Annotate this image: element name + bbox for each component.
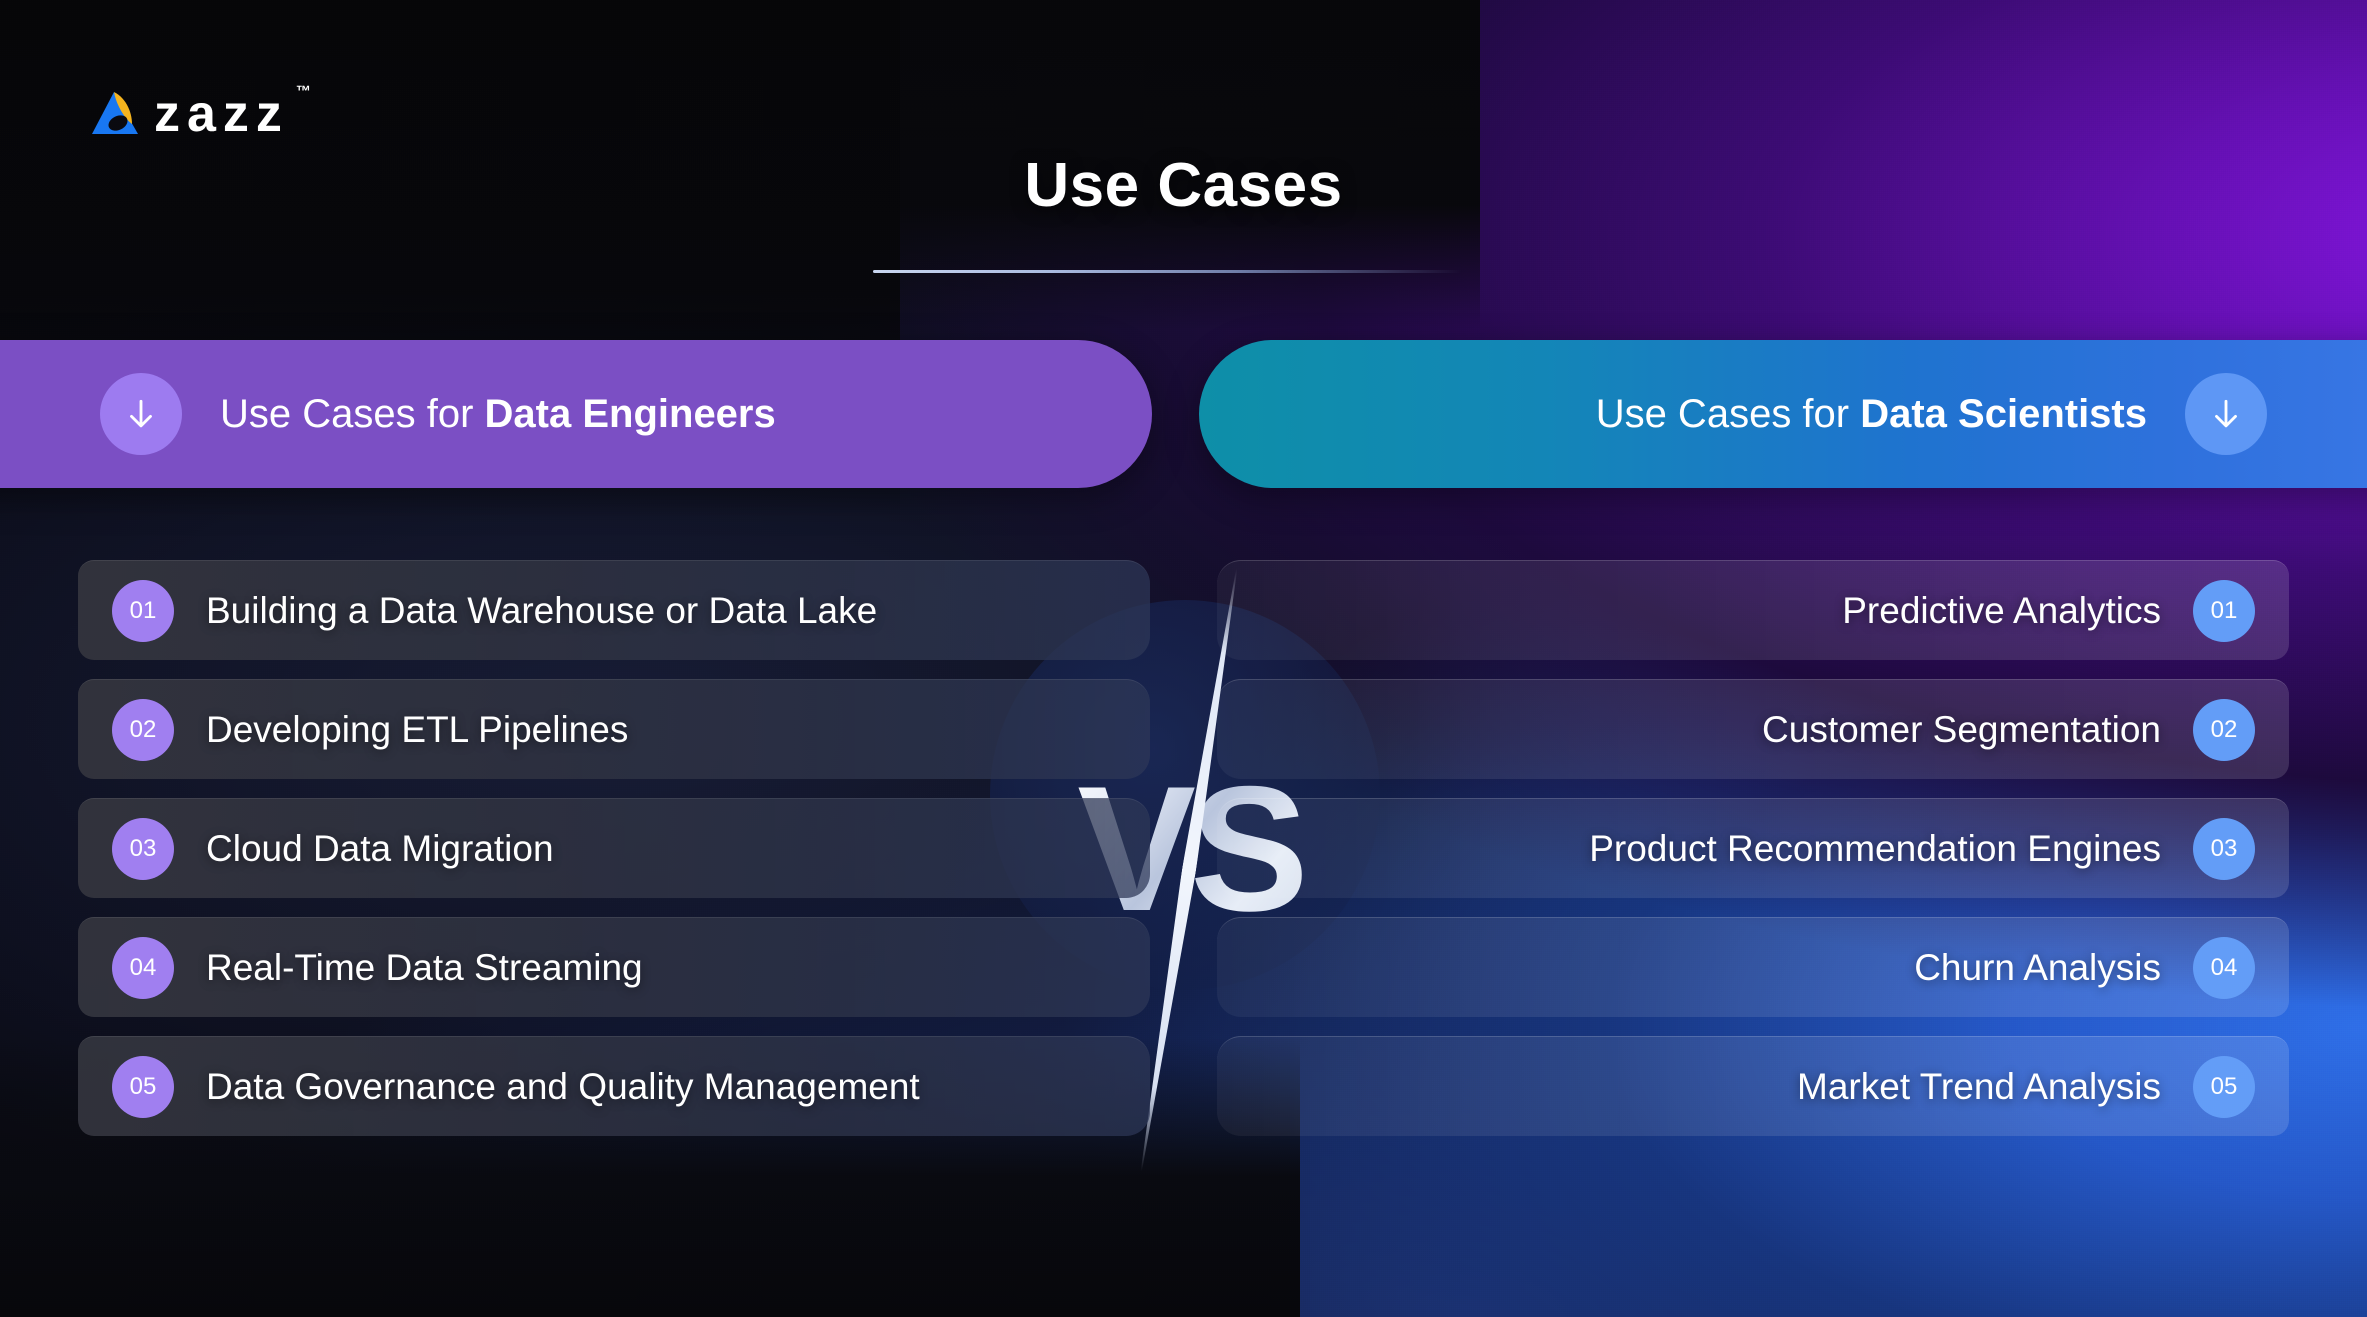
right-panel-header-label: Use Cases for Data Scientists	[1596, 392, 2147, 437]
item-label: Product Recommendation Engines	[1589, 828, 2161, 870]
arrow-down-icon	[100, 373, 182, 455]
list-item[interactable]: 03 Cloud Data Migration	[78, 798, 1150, 898]
list-item[interactable]: Predictive Analytics 01	[1217, 560, 2289, 660]
item-number-badge: 03	[112, 818, 174, 880]
item-number-badge: 01	[2193, 580, 2255, 642]
item-label: Predictive Analytics	[1842, 590, 2161, 632]
right-header-strong: Data Scientists	[1860, 392, 2147, 436]
title-underline-rule	[873, 270, 1461, 273]
item-label: Churn Analysis	[1914, 947, 2161, 989]
right-panel-header[interactable]: Use Cases for Data Scientists	[1199, 340, 2367, 488]
item-label: Customer Segmentation	[1762, 709, 2161, 751]
item-label: Developing ETL Pipelines	[206, 709, 628, 751]
list-item[interactable]: Churn Analysis 04	[1217, 917, 2289, 1017]
page-title: Use Cases	[0, 150, 2367, 221]
item-number-badge: 04	[112, 937, 174, 999]
item-label: Data Governance and Quality Management	[206, 1066, 920, 1108]
item-label: Cloud Data Migration	[206, 828, 554, 870]
list-item[interactable]: 04 Real-Time Data Streaming	[78, 917, 1150, 1017]
page-title-wrap: Use Cases	[0, 150, 2367, 221]
item-label: Building a Data Warehouse or Data Lake	[206, 590, 877, 632]
item-number-badge: 02	[2193, 699, 2255, 761]
list-item[interactable]: 01 Building a Data Warehouse or Data Lak…	[78, 560, 1150, 660]
left-header-strong: Data Engineers	[485, 392, 776, 436]
item-number-badge: 03	[2193, 818, 2255, 880]
list-item[interactable]: Customer Segmentation 02	[1217, 679, 2289, 779]
left-panel-header[interactable]: Use Cases for Data Engineers	[0, 340, 1152, 488]
zazz-triangle-logo-icon	[88, 88, 140, 140]
trademark-symbol: ™	[296, 84, 311, 99]
arrow-down-icon	[2185, 373, 2267, 455]
list-item[interactable]: 05 Data Governance and Quality Managemen…	[78, 1036, 1150, 1136]
left-header-prefix: Use Cases for	[220, 392, 485, 436]
item-number-badge: 05	[112, 1056, 174, 1118]
left-items-column: 01 Building a Data Warehouse or Data Lak…	[78, 560, 1150, 1136]
right-header-prefix: Use Cases for	[1596, 392, 1861, 436]
list-item[interactable]: 02 Developing ETL Pipelines	[78, 679, 1150, 779]
item-number-badge: 04	[2193, 937, 2255, 999]
brand-wordmark: zazz ™	[154, 88, 289, 140]
item-number-badge: 05	[2193, 1056, 2255, 1118]
infographic-canvas: zazz ™ Use Cases Use Cases for Data Engi…	[0, 0, 2367, 1317]
left-panel-header-label: Use Cases for Data Engineers	[220, 392, 776, 437]
item-label: Market Trend Analysis	[1797, 1066, 2161, 1108]
brand-name-text: zazz	[154, 85, 289, 143]
list-item[interactable]: Market Trend Analysis 05	[1217, 1036, 2289, 1136]
right-items-column: Predictive Analytics 01 Customer Segment…	[1217, 560, 2289, 1136]
brand-logo: zazz ™	[88, 88, 289, 140]
item-label: Real-Time Data Streaming	[206, 947, 643, 989]
list-item[interactable]: Product Recommendation Engines 03	[1217, 798, 2289, 898]
item-number-badge: 02	[112, 699, 174, 761]
item-number-badge: 01	[112, 580, 174, 642]
